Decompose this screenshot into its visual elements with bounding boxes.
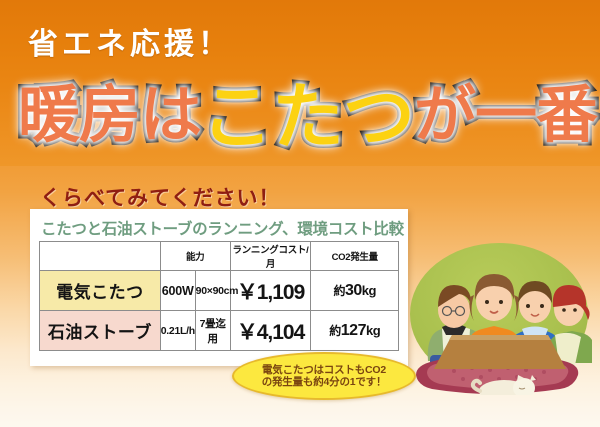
callout-line-1: 電気こたつはコストもCO2	[262, 364, 386, 376]
sub-headline: 省エネ応援！	[28, 30, 232, 60]
panel-title: こたつと石油ストーブのランニング、環境コスト比較	[41, 217, 404, 239]
row-kotatsu-co2-unit: kg	[362, 283, 376, 298]
header-cell-running-cost: ランニングコスト/月	[230, 242, 311, 271]
compare-call-text: くらべてみてください！	[40, 182, 281, 212]
family-kotatsu-figure-icon	[406, 243, 592, 395]
family-kotatsu-illustration	[406, 243, 592, 395]
table-header-row: 能力 ランニングコスト/月 CO2発生量	[40, 242, 399, 271]
row-stove-co2: 約127kg	[311, 311, 399, 351]
comparison-panel: こたつと石油ストーブのランニング、環境コスト比較 能力 ランニングコスト/月 C…	[30, 209, 408, 366]
row-stove-co2-approx: 約	[329, 324, 341, 338]
row-kotatsu-capacity-size: 90×90cm	[195, 271, 230, 311]
row-kotatsu-co2-approx: 約	[333, 284, 345, 298]
row-kotatsu-running-cost: ￥1,109	[230, 271, 311, 311]
row-stove-capacity-power: 0.21L/h	[160, 311, 195, 351]
table-row: 電気こたつ 600W 90×90cm ￥1,109 約30kg	[40, 271, 399, 311]
header-cell-co2: CO2発生量	[311, 242, 399, 271]
cost-comparison-table: 能力 ランニングコスト/月 CO2発生量 電気こたつ 600W 90×90cm …	[39, 241, 399, 351]
table-row: 石油ストーブ 0.21L/h 7畳迄用 ￥4,104 約127kg	[40, 311, 399, 351]
row-stove-running-cost: ￥4,104	[230, 311, 311, 351]
callout-bubble: 電気こたつはコストもCO2 の発生量も約4分の1です！	[232, 352, 416, 400]
row-stove-co2-value: 127	[341, 322, 366, 339]
headline-part-3: が一番！	[414, 85, 600, 147]
headline-part-1: 暖房は	[18, 85, 201, 147]
header-cell-capacity: 能力	[160, 242, 230, 271]
row-stove-name: 石油ストーブ	[40, 311, 161, 351]
poster-root: 省エネ応援！ 暖房はこたつが一番！ くらべてみてください！ こたつと石油ストーブ…	[0, 0, 600, 427]
row-stove-co2-unit: kg	[366, 323, 380, 338]
row-kotatsu-capacity-power: 600W	[160, 271, 195, 311]
row-kotatsu-name: 電気こたつ	[40, 271, 161, 311]
main-headline: 暖房はこたつが一番！	[18, 82, 600, 154]
callout-line-2: の発生量も約4分の1です！	[262, 376, 387, 388]
headline-part-2: こたつ	[201, 82, 414, 154]
header-cell-blank	[40, 242, 161, 271]
top-banner: 省エネ応援！ 暖房はこたつが一番！	[0, 0, 600, 166]
row-kotatsu-co2: 約30kg	[311, 271, 399, 311]
kotatsu-table-icon	[434, 335, 566, 369]
row-kotatsu-co2-value: 30	[345, 282, 362, 299]
row-stove-capacity-size: 7畳迄用	[195, 311, 230, 351]
